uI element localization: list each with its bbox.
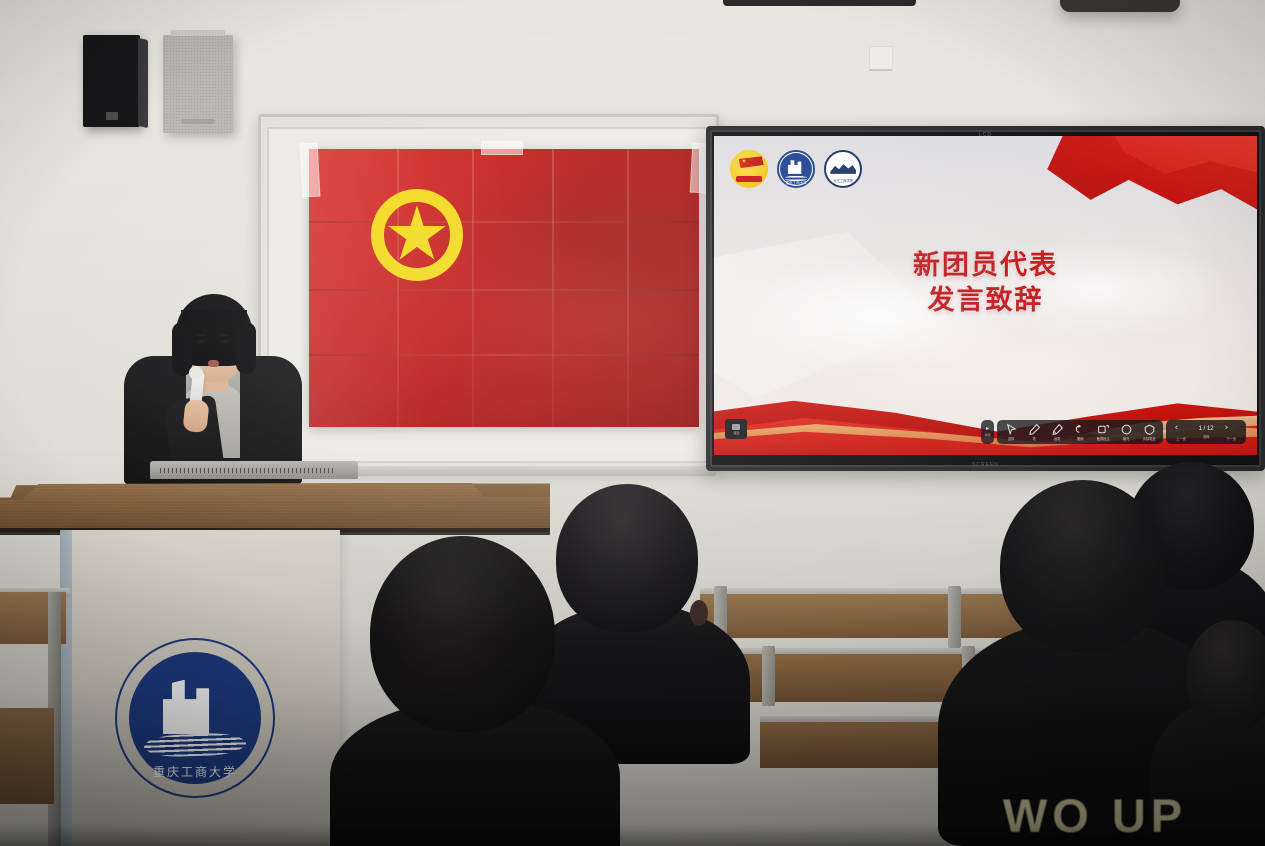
black-wall-speaker — [83, 35, 140, 127]
slide-title-line2: 发言致辞 — [714, 283, 1257, 318]
slide-corner-icon — [732, 424, 740, 430]
podium-front-panel: 重庆工商大学 CHONGQING TECHNOLOGY AND BUSINESS… — [72, 530, 340, 846]
page-indicator: 1 / 12 页码 — [1194, 424, 1218, 440]
cyl-emblem — [371, 189, 463, 281]
toolbar-collapse-handle[interactable]: ▸ 收起 — [981, 420, 994, 444]
audience-head-2 — [556, 484, 698, 632]
slide-logo-row: 重庆工商大学 长江工商学院 — [730, 150, 862, 188]
slide-corner-label: 返回 — [733, 431, 739, 435]
toolbar-handle-label: 收起 — [985, 433, 991, 437]
speaker-port-slot — [181, 119, 215, 124]
highlighter-tool-label: 画笔 — [1054, 437, 1060, 441]
presentation-slide[interactable]: 重庆工商大学 长江工商学院 新团员代表 发言致辞 返回 — [714, 136, 1257, 455]
bench-post-3 — [762, 646, 775, 706]
speaker-eye-left — [197, 340, 205, 343]
undo-tool[interactable]: 撤销 — [1069, 422, 1091, 442]
spotlight-tool-label: 聚光 — [1123, 437, 1129, 441]
flag-tape-left — [300, 143, 321, 198]
flag-tape-top — [481, 141, 523, 155]
highlighter-tool[interactable]: 画笔 — [1046, 422, 1068, 442]
cqtbu-seal-logo: 重庆工商大学 — [777, 150, 815, 188]
cqtbu-crest: 重庆工商大学 CHONGQING TECHNOLOGY AND BUSINESS… — [115, 638, 275, 798]
screenshot-tool[interactable]: 截屏批注 — [1092, 422, 1114, 442]
slide-corner-button[interactable]: 返回 — [725, 419, 747, 439]
eraser-tool[interactable]: 清除笔迹 — [1138, 422, 1160, 442]
desk-wood-grain — [0, 482, 550, 532]
toolbar-tools-group[interactable]: 选择 笔 画笔 — [997, 420, 1163, 444]
communist-youth-league-flag — [309, 149, 699, 427]
bench-left-lower — [0, 708, 54, 804]
toolbar-navigation-group[interactable]: ‹ 上一页 1 / 12 页码 › 下一页 — [1166, 420, 1246, 444]
audience-head-3 — [1000, 480, 1166, 652]
ceiling-fixture-left — [723, 0, 916, 6]
foreground-shadow — [0, 824, 1265, 846]
ceiling-fixture-right — [1060, 0, 1180, 12]
marker-icon — [1051, 423, 1064, 436]
prev-page-button[interactable]: ‹ 上一页 — [1169, 422, 1193, 442]
slide-title-line1: 新团员代表 — [913, 250, 1058, 281]
undo-arrow-icon — [1074, 423, 1087, 436]
audience-head-1 — [370, 536, 555, 732]
page-indicator-label: 页码 — [1203, 435, 1209, 439]
page-indicator-value: 1 / 12 — [1199, 425, 1214, 434]
whiteboard-frame — [258, 114, 719, 472]
speaker-hand — [182, 399, 209, 433]
school-emblem-label: 长江工商学院 — [824, 178, 862, 183]
desk-monitor — [150, 461, 358, 479]
wall-outlet-plate — [869, 46, 893, 71]
slide-annotation-toolbar[interactable]: ▸ 收起 选择 笔 — [981, 420, 1246, 444]
audience-head-5 — [1186, 620, 1265, 730]
speaker-badge-icon — [106, 112, 118, 120]
select-tool[interactable]: 选择 — [1000, 422, 1022, 442]
communist-youth-league-logo — [730, 150, 768, 188]
chevron-right-icon: › — [1225, 423, 1238, 436]
classroom-photo-scene: LCD SCREEN 重庆工商大学 长江工商学院 — [0, 0, 1265, 846]
speaker-brow-left — [196, 334, 206, 336]
crest-ring-text: CHONGQING TECHNOLOGY AND BUSINESS UNIVER… — [116, 639, 274, 797]
speaker-brow-right — [220, 334, 230, 336]
cqtbu-seal-label: 重庆工商大学 — [777, 180, 815, 185]
speaker-hair-right — [236, 322, 256, 374]
select-tool-label: 选择 — [1008, 437, 1014, 441]
speaker-mount-tabs — [171, 30, 225, 36]
speaker-mouth — [208, 360, 219, 367]
spotlight-tool[interactable]: 聚光 — [1115, 422, 1137, 442]
display-brand-bottom: SCREEN — [972, 462, 999, 468]
eraser-icon — [1143, 423, 1156, 436]
undo-tool-label: 撤销 — [1077, 437, 1083, 441]
chevron-left-icon: ‹ — [1175, 423, 1188, 436]
monitor-vents — [160, 468, 336, 473]
flag-shading — [309, 149, 699, 427]
chevron-right-icon: ▸ — [986, 426, 989, 432]
pen-tool[interactable]: 笔 — [1023, 422, 1045, 442]
pen-icon — [1028, 423, 1041, 436]
grey-wall-speaker — [163, 35, 233, 133]
bench-post-2 — [948, 586, 961, 648]
interactive-smart-display[interactable]: LCD SCREEN 重庆工商大学 长江工商学院 — [706, 126, 1265, 471]
speaker-hair-left — [172, 322, 192, 376]
audience-ear-2 — [690, 600, 708, 626]
pen-tool-label: 笔 — [1033, 437, 1036, 441]
student-speaker — [124, 288, 302, 484]
school-emblem-logo: 长江工商学院 — [824, 150, 862, 188]
capture-icon — [1097, 423, 1110, 436]
slide-title: 新团员代表 发言致辞 — [714, 248, 1257, 318]
bench-row1-seat — [700, 594, 1030, 638]
circle-icon — [1120, 423, 1133, 436]
screenshot-tool-label: 截屏批注 — [1097, 437, 1110, 441]
speaker-eye-right — [221, 340, 229, 343]
next-page-button[interactable]: › 下一页 — [1219, 422, 1243, 442]
eraser-tool-label: 清除笔迹 — [1143, 437, 1156, 441]
next-page-label: 下一页 — [1226, 437, 1236, 441]
cursor-icon — [1005, 423, 1018, 436]
prev-page-label: 上一页 — [1176, 437, 1186, 441]
